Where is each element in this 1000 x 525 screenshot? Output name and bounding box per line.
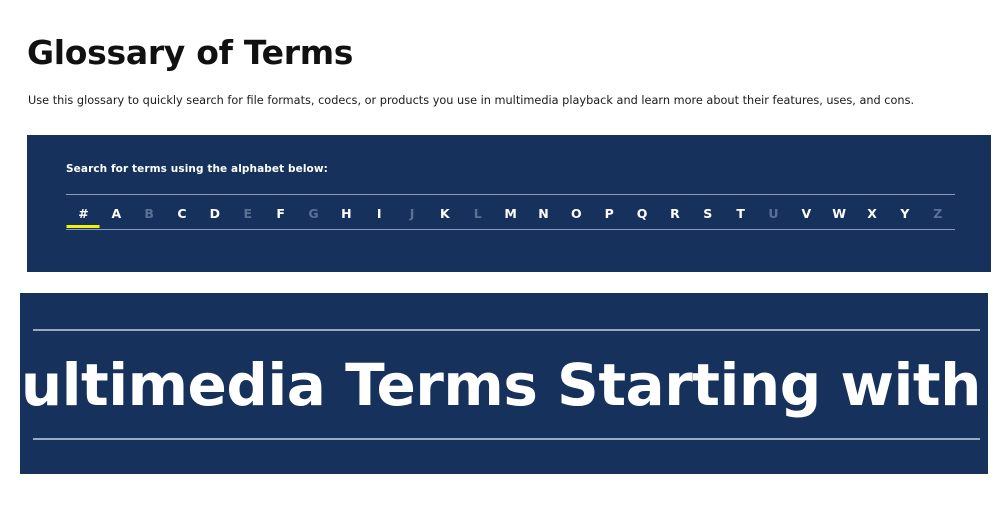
alphabet-letter-d[interactable]: D [198, 195, 231, 229]
alphabet-letter-b: B [133, 195, 166, 229]
alphabet-letter-w[interactable]: W [823, 195, 856, 229]
alphabet-letter-m[interactable]: M [494, 195, 527, 229]
alphabet-letter-l: L [461, 195, 494, 229]
alphabet-letter-v[interactable]: V [790, 195, 823, 229]
alphabet-letter-p[interactable]: P [593, 195, 626, 229]
section-banner-inner: Multimedia Terms Starting with O [33, 329, 980, 440]
alphabet-letter-u: U [757, 195, 790, 229]
alphabet-letter-f[interactable]: F [264, 195, 297, 229]
alphabet-letter-list: #ABCDEFGHIJKLMNOPQRSTUVWXYZ [66, 195, 955, 229]
alphabet-bottom-rule [66, 229, 955, 230]
banner-bottom-rule [33, 438, 980, 440]
alphabet-letter-e: E [231, 195, 264, 229]
alphabet-letter-h[interactable]: H [330, 195, 363, 229]
alphabet-letter-s[interactable]: S [691, 195, 724, 229]
alphabet-letter-c[interactable]: C [166, 195, 199, 229]
alphabet-letter-n[interactable]: N [527, 195, 560, 229]
alphabet-nav: #ABCDEFGHIJKLMNOPQRSTUVWXYZ [66, 194, 955, 230]
alphabet-letter-z: Z [921, 195, 954, 229]
alphabet-letter-i[interactable]: I [363, 195, 396, 229]
section-banner: Multimedia Terms Starting with O [20, 293, 988, 474]
alphabet-letter-g: G [297, 195, 330, 229]
alphabet-letter-r[interactable]: R [658, 195, 691, 229]
alphabet-search-panel: Search for terms using the alphabet belo… [27, 135, 991, 272]
search-instruction-label: Search for terms using the alphabet belo… [66, 163, 328, 175]
alphabet-letter-o[interactable]: O [560, 195, 593, 229]
alphabet-letter-j: J [396, 195, 429, 229]
alphabet-letter-hash[interactable]: # [67, 195, 100, 229]
alphabet-letter-y[interactable]: Y [888, 195, 921, 229]
alphabet-letter-k[interactable]: K [428, 195, 461, 229]
section-heading: Multimedia Terms Starting with O [33, 331, 980, 438]
alphabet-letter-a[interactable]: A [100, 195, 133, 229]
alphabet-letter-x[interactable]: X [856, 195, 889, 229]
alphabet-letter-q[interactable]: Q [626, 195, 659, 229]
page-intro-text: Use this glossary to quickly search for … [28, 92, 914, 109]
alphabet-letter-t[interactable]: T [724, 195, 757, 229]
page-title: Glossary of Terms [27, 30, 353, 76]
